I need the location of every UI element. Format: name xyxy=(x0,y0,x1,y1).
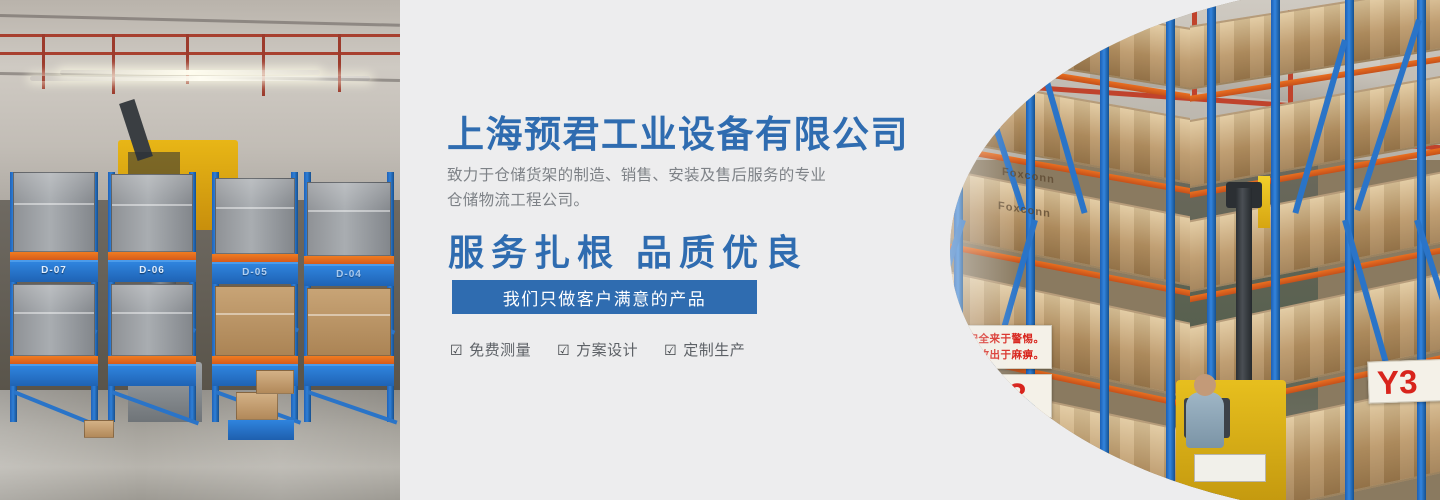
palletized-goods xyxy=(111,174,193,252)
company-subtitle: 致力于仓储货架的制造、销售、安装及售后服务的专业 仓储物流工程公司。 xyxy=(447,163,867,213)
safety-warning-line-2: 事故出于麻痹。 xyxy=(968,347,1045,363)
feature-item-free-measurement: ☑ 免费测量 xyxy=(450,339,531,360)
forklift-plate xyxy=(1194,454,1266,482)
floor-carton xyxy=(84,420,114,438)
ceiling-drop-pipe xyxy=(262,34,265,96)
aisle-code-sign-edge: Y3 xyxy=(1367,358,1440,403)
rack-pallet-label-panel: D-04 xyxy=(304,264,394,286)
check-box-icon: ☑ xyxy=(557,343,570,357)
palletized-goods xyxy=(13,284,95,356)
safety-warning-line-1: 安全来于警惕。 xyxy=(968,331,1045,347)
feature-label: 定制生产 xyxy=(683,339,745,360)
rack-location-label: D-04 xyxy=(336,269,362,280)
left-warehouse-photo: D-07 D-06 xyxy=(0,0,400,500)
banner-text-block: 上海预君工业设备有限公司 致力于仓储货架的制造、销售、安装及售后服务的专业 仓储… xyxy=(400,0,1000,500)
palletized-goods xyxy=(13,172,95,252)
feature-label: 免费测量 xyxy=(469,339,531,360)
ceiling-drop-pipe xyxy=(338,34,341,92)
promo-banner: D-07 D-06 xyxy=(0,0,1440,500)
company-subtitle-line-1: 致力于仓储货架的制造、销售、安装及售后服务的专业 xyxy=(447,163,867,188)
company-slogan: 服务扎根 品质优良 xyxy=(448,224,808,276)
safety-warning-sign: 安全来于警惕。 事故出于麻痹。 xyxy=(960,325,1052,369)
rack-brace xyxy=(307,390,397,424)
rack-pallet-label-panel: D-06 xyxy=(108,260,196,282)
forklift-operator xyxy=(1186,392,1224,448)
rack-location-label: D-05 xyxy=(242,267,268,278)
rack-brace xyxy=(111,390,199,425)
rack-location-label: D-06 xyxy=(139,265,165,276)
aisle-code-sign: Y3 xyxy=(960,374,1052,418)
check-box-icon: ☑ xyxy=(450,343,463,357)
company-title: 上海预君工业设备有限公司 xyxy=(447,104,909,158)
ceiling-drop-pipe xyxy=(112,34,115,94)
carton-goods xyxy=(307,288,391,356)
rack-upright xyxy=(1100,0,1109,500)
rack-pallet xyxy=(10,364,98,386)
feature-list: ☑ 免费测量 ☑ 方案设计 ☑ 定制生产 xyxy=(450,339,745,360)
rack-upright xyxy=(1166,0,1175,500)
rack-pallet-label-panel: D-05 xyxy=(212,262,298,284)
rack-pallet xyxy=(304,364,394,386)
rack-bay: D-07 xyxy=(10,172,98,422)
palletized-goods xyxy=(307,182,391,256)
right-photo-wrapper: Foxconn Foxconn Foxconn Foxconn xyxy=(940,0,1440,500)
rack-bay: D-06 xyxy=(108,172,196,422)
feature-item-custom-production: ☑ 定制生产 xyxy=(664,339,745,360)
rack-pallet xyxy=(108,364,196,386)
floor-carton xyxy=(256,370,294,394)
rack-location-label: D-07 xyxy=(41,265,67,276)
carton-goods xyxy=(215,286,295,356)
floor-pallet xyxy=(228,420,294,440)
cta-button[interactable]: 我们只做客户满意的产品 xyxy=(452,280,757,314)
operator-head xyxy=(1194,374,1216,396)
ceiling-light xyxy=(30,76,370,81)
rack-run-left: Foxconn Foxconn Foxconn Foxconn xyxy=(940,0,1190,500)
carton-brand-label: Foxconn xyxy=(1010,28,1063,47)
ceiling-light xyxy=(60,70,320,75)
right-warehouse-photo: Foxconn Foxconn Foxconn Foxconn xyxy=(940,0,1440,500)
rack-bay: D-04 xyxy=(304,172,394,422)
palletized-goods xyxy=(215,178,295,254)
feature-item-solution-design: ☑ 方案设计 xyxy=(557,339,638,360)
palletized-goods xyxy=(111,284,193,356)
company-subtitle-line-2: 仓储物流工程公司。 xyxy=(447,188,867,213)
check-box-icon: ☑ xyxy=(664,343,677,357)
carton-brand-label: Foxconn xyxy=(1006,62,1059,81)
feature-label: 方案设计 xyxy=(576,339,638,360)
rack-pallet-label-panel: D-07 xyxy=(10,260,98,282)
floor-carton xyxy=(236,392,278,420)
